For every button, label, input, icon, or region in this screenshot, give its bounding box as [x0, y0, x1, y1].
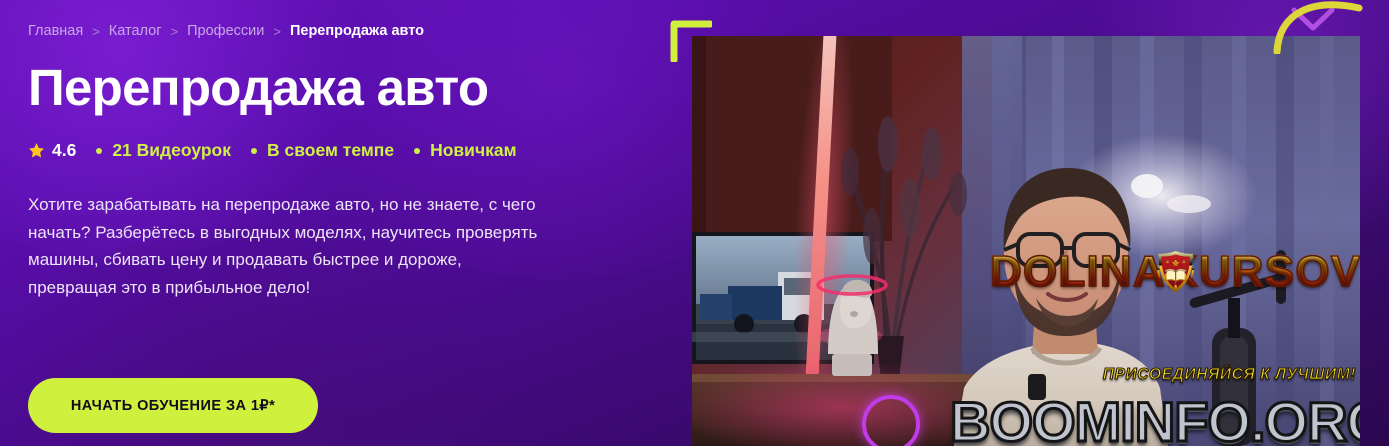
meta-item-lessons: 21 Видеоурок — [112, 140, 231, 161]
course-description: Хотите зарабатывать на перепродаже авто,… — [28, 191, 548, 301]
rating-value: 4.6 — [52, 140, 76, 161]
rating: 4.6 — [28, 140, 76, 161]
bullet-dot-icon — [414, 148, 420, 154]
course-video-thumbnail[interactable]: DOLINAKURSOV ПРИСОЕДИНЯЙСЯ К ЛУЧШИМ! BOO… — [692, 36, 1360, 446]
breadcrumb-item-professions[interactable]: Профессии — [187, 23, 264, 39]
bullet-dot-icon — [96, 148, 102, 154]
circle-outline-icon — [862, 395, 920, 446]
breadcrumb-item-current: Перепродажа авто — [290, 23, 424, 39]
page-title: Перепродажа авто — [28, 61, 680, 114]
hero-left-column: Главная > Каталог > Профессии > Перепрод… — [0, 0, 680, 446]
bullet-dot-icon — [251, 148, 257, 154]
breadcrumb-separator-icon: > — [92, 24, 100, 39]
breadcrumb-item-catalog[interactable]: Каталог — [109, 23, 162, 39]
meta-item-pace: В своем темпе — [267, 140, 394, 161]
breadcrumb-separator-icon: > — [273, 24, 281, 39]
breadcrumb-item-home[interactable]: Главная — [28, 23, 83, 39]
watermark-dolinakursov: DOLINAKURSOV — [990, 250, 1360, 294]
meta-item-level: Новичкам — [430, 140, 516, 161]
watermark-brand-text-secondary: BOOMINFO.ORG — [950, 394, 1360, 446]
video-frame-image — [692, 36, 1360, 446]
breadcrumb: Главная > Каталог > Профессии > Перепрод… — [28, 23, 680, 39]
arc-icon — [1273, 0, 1363, 54]
watermark-tagline-primary: ПРИСОЕДИНЯЙСЯ К ЛУЧШИМ! — [1103, 366, 1356, 384]
course-meta-row: 4.6 21 Видеоурок В своем темпе Новичкам — [28, 140, 680, 161]
star-icon — [28, 142, 45, 159]
breadcrumb-separator-icon: > — [171, 24, 179, 39]
start-learning-button[interactable]: НАЧАТЬ ОБУЧЕНИЕ ЗА 1₽* — [28, 378, 318, 433]
shield-crest-icon — [990, 250, 1360, 294]
